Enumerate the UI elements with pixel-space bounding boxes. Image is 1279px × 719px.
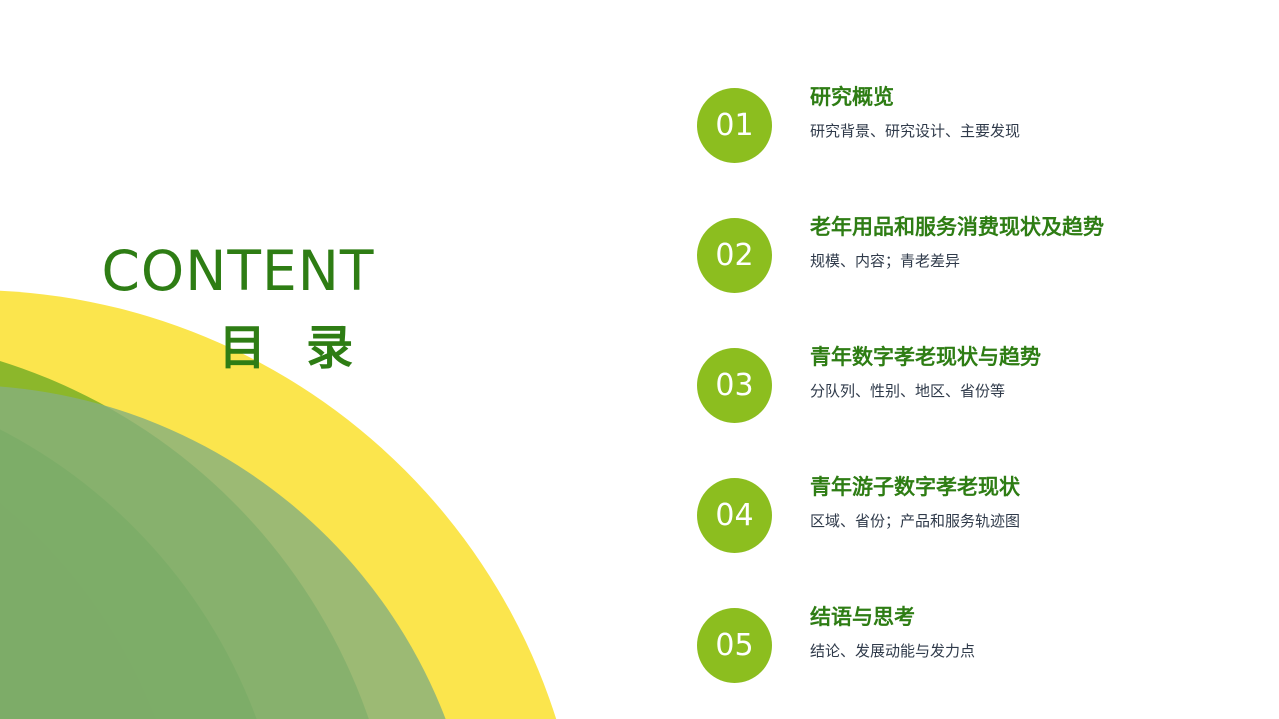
toc-title-01: 研究概览 — [810, 83, 1230, 111]
toc-title-02: 老年用品和服务消费现状及趋势 — [810, 213, 1230, 241]
toc-item-04[interactable]: 04 青年游子数字孝老现状 区域、省份；产品和服务轨迹图 — [697, 473, 1237, 603]
toc-text-block-01: 研究概览 研究背景、研究设计、主要发现 — [810, 83, 1230, 142]
toc-item-01[interactable]: 01 研究概览 研究背景、研究设计、主要发现 — [697, 83, 1237, 213]
decor-sage-arc-icon — [0, 385, 480, 719]
toc-text-block-03: 青年数字孝老现状与趋势 分队列、性别、地区、省份等 — [810, 343, 1230, 402]
content-heading-zh: 目 录 — [108, 309, 476, 378]
toc-number-badge-05[interactable]: 05 — [697, 608, 772, 683]
toc-number-badge-03[interactable]: 03 — [697, 348, 772, 423]
toc-number-label: 05 — [715, 631, 753, 661]
toc-item-05[interactable]: 05 结语与思考 结论、发展动能与发力点 — [697, 603, 1237, 699]
toc-item-03[interactable]: 03 青年数字孝老现状与趋势 分队列、性别、地区、省份等 — [697, 343, 1237, 473]
toc-subtitle-03: 分队列、性别、地区、省份等 — [810, 381, 1230, 402]
toc-number-label: 04 — [715, 501, 753, 531]
toc-text-block-05: 结语与思考 结论、发展动能与发力点 — [810, 603, 1230, 662]
toc-number-badge-04[interactable]: 04 — [697, 478, 772, 553]
toc-subtitle-02: 规模、内容；青老差异 — [810, 251, 1230, 272]
page-title: CONTENT 目 录 — [0, 243, 476, 378]
toc-number-badge-01[interactable]: 01 — [697, 88, 772, 163]
decor-olive-arc-icon — [0, 335, 400, 719]
slide-canvas: CONTENT 目 录 01 研究概览 研究背景、研究设计、主要发现 02 老年… — [0, 0, 1279, 719]
toc-number-badge-02[interactable]: 02 — [697, 218, 772, 293]
toc-item-02[interactable]: 02 老年用品和服务消费现状及趋势 规模、内容；青老差异 — [697, 213, 1237, 343]
toc-title-03: 青年数字孝老现状与趋势 — [810, 343, 1230, 371]
toc-text-block-02: 老年用品和服务消费现状及趋势 规模、内容；青老差异 — [810, 213, 1230, 272]
toc-number-label: 02 — [715, 241, 753, 271]
table-of-contents: 01 研究概览 研究背景、研究设计、主要发现 02 老年用品和服务消费现状及趋势… — [697, 83, 1237, 699]
toc-number-label: 01 — [715, 111, 753, 141]
toc-subtitle-05: 结论、发展动能与发力点 — [810, 641, 1230, 662]
toc-subtitle-04: 区域、省份；产品和服务轨迹图 — [810, 511, 1230, 532]
content-heading-en: CONTENT — [0, 243, 476, 301]
toc-subtitle-01: 研究背景、研究设计、主要发现 — [810, 121, 1230, 142]
decor-mid-green-arc-icon — [0, 370, 290, 719]
toc-text-block-04: 青年游子数字孝老现状 区域、省份；产品和服务轨迹图 — [810, 473, 1230, 532]
toc-number-label: 03 — [715, 371, 753, 401]
toc-title-05: 结语与思考 — [810, 603, 1230, 631]
decor-dark-green-arc-icon — [0, 385, 190, 719]
toc-title-04: 青年游子数字孝老现状 — [810, 473, 1230, 501]
